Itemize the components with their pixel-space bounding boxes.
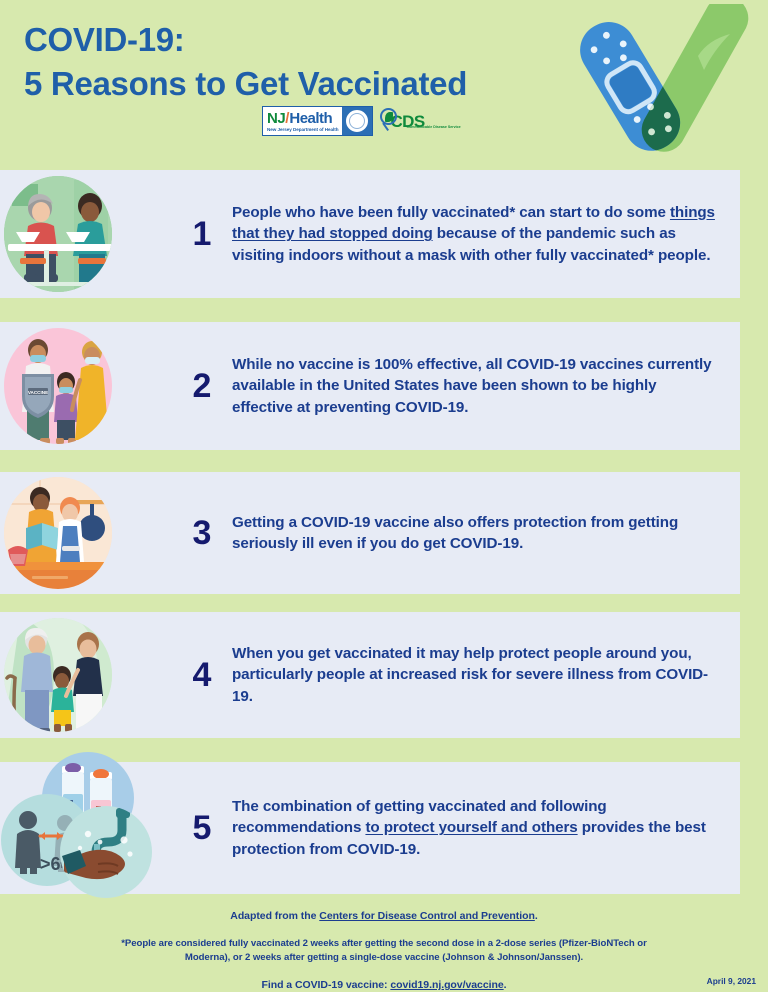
couple-cooking-in-kitchen-illustration (0, 472, 172, 594)
reason-text-1: People who have been fully vaccinated* c… (232, 202, 740, 267)
reason-number-4: 4 (172, 658, 232, 692)
footer-find-prefix: Find a COVID-19 vaccine: (261, 979, 390, 991)
nj-health-health-text: Health (289, 111, 332, 126)
footer-adapted-prefix: Adapted from the (230, 910, 319, 922)
nj-health-wordmark: NJ / Health New Jersey Department of Hea… (263, 107, 342, 135)
reason-card-2: VACCINE (0, 322, 740, 450)
publication-date: April 9, 2021 (707, 976, 756, 986)
vaccine-distancing-handwashing-illustration: >6 feet (0, 762, 172, 894)
nj-health-logo: NJ / Health New Jersey Department of Hea… (262, 106, 373, 136)
reason-text-4: When you get vaccinated it may help prot… (232, 643, 740, 708)
footer-adapted-suffix: . (535, 910, 538, 922)
reason-text-5: The combination of getting vaccinated an… (232, 796, 740, 861)
nj-health-subtitle: New Jersey Department of Health (267, 127, 338, 132)
title-line-1: COVID-19: (24, 18, 467, 62)
reason-card-5: >6 feet (0, 762, 740, 894)
reason-card-4: 4 When you get vaccinated it may help pr… (0, 612, 740, 738)
svg-text:>6: >6 (40, 854, 61, 874)
footer-adapted-line: Adapted from the Centers for Disease Con… (0, 900, 768, 922)
cdc-link[interactable]: Centers for Disease Control and Preventi… (319, 910, 535, 922)
bandage-checkmark-graphic (578, 4, 762, 156)
title-line-2: 5 Reasons to Get Vaccinated (24, 62, 467, 106)
nj-health-nj-text: NJ (267, 111, 285, 126)
reason-text-2: While no vaccine is 100% effective, all … (232, 354, 740, 419)
cds-subtitle: Communicable Disease Service (406, 125, 460, 129)
reason-card-3: 3 Getting a COVID-19 vaccine also offers… (0, 472, 740, 594)
logo-row: NJ / Health New Jersey Department of Hea… (262, 106, 425, 136)
two-people-dining-illustration (0, 170, 172, 298)
reason-number-1: 1 (172, 217, 232, 251)
reason-text-3: Getting a COVID-19 vaccine also offers p… (232, 512, 740, 555)
state-seal-icon (345, 109, 369, 133)
footnote-line-1: *People are considered fully vaccinated … (121, 938, 634, 949)
reason-number-3: 3 (172, 516, 232, 550)
reason-number-5: 5 (172, 811, 232, 845)
header: COVID-19: 5 Reasons to Get Vaccinated NJ… (0, 0, 768, 160)
footer-find-line: Find a COVID-19 vaccine: covid19.nj.gov/… (0, 964, 768, 991)
grandfather-child-woman-illustration (0, 612, 172, 738)
infographic-page: COVID-19: 5 Reasons to Get Vaccinated NJ… (0, 0, 768, 992)
reason-number-2: 2 (172, 369, 232, 403)
page-title: COVID-19: 5 Reasons to Get Vaccinated (24, 18, 467, 106)
reason-card-1: 1 People who have been fully vaccinated*… (0, 170, 740, 298)
footer: Adapted from the Centers for Disease Con… (0, 900, 768, 992)
footer-footnote: *People are considered fully vaccinated … (0, 922, 768, 964)
nj-state-seal-container (342, 107, 372, 135)
svg-text:VACCINE: VACCINE (28, 390, 48, 395)
vaccine-finder-link[interactable]: covid19.nj.gov/vaccine (390, 979, 503, 991)
family-with-vaccine-shield-illustration: VACCINE (0, 322, 172, 450)
footer-find-suffix: . (504, 979, 507, 991)
cds-logo: CDS Communicable Disease Service (380, 106, 424, 136)
